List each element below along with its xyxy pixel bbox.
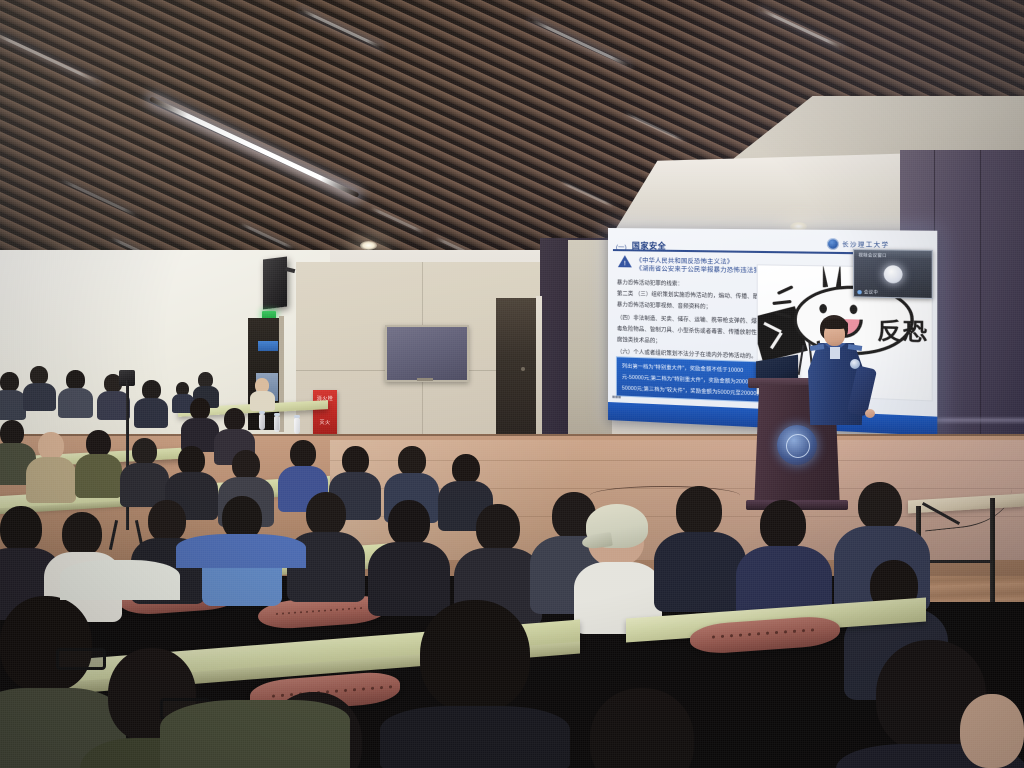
university-mark-icon [827, 238, 839, 250]
pip-status-label: 会议中 [864, 289, 878, 296]
slide-body-line: 毒危险物品、管制刀具、小型杀伤或者毒害、传播放射性和 [617, 324, 763, 336]
blue-jacket-sleeve [176, 534, 306, 568]
recessed-downlight [360, 241, 377, 250]
olive-sleeve [160, 700, 350, 768]
slide-body-line: 暴力恐怖活动犯罪视频、音频资料的； [617, 300, 711, 310]
white-sleeve [60, 560, 180, 600]
monitor-base [417, 378, 433, 381]
cartoon-eye [850, 305, 858, 315]
blue-wall-sign [258, 341, 278, 351]
cartoon-motion-line [777, 285, 794, 295]
officer-hand [865, 409, 875, 418]
slide-body-line: 腐蚀类技术品的； [617, 335, 661, 344]
fire-extinguisher-cabinet[interactable]: 消火栓 灭火 [313, 390, 337, 438]
door-jamb [536, 296, 542, 448]
police-officer-presenter [806, 315, 868, 435]
university-crest-ring [786, 434, 810, 458]
slide-body-line: （四）非法制造、买卖、储存、运输、携带枪支弹药、爆炸、剧 [617, 313, 774, 325]
officer-fringe [821, 319, 848, 329]
slide-body-line: 暴力恐怖活动犯罪的线索： [617, 278, 683, 287]
cartoon-text-label: 反恐 [877, 320, 928, 345]
ceiling-speaker [263, 257, 287, 310]
side-door[interactable] [496, 298, 538, 446]
slide-highlight-line: 50000元;第三档为"较大件"，奖励金额为5000元至20000元。 [622, 385, 768, 398]
officer-shirt [830, 347, 840, 359]
wall-mounted-monitor[interactable] [385, 325, 469, 382]
cartoon-motion-line [772, 300, 791, 305]
door-handle[interactable] [521, 367, 525, 371]
slide-footer-tag: ■■■ [612, 394, 621, 400]
video-conference-window[interactable]: 视频会议窗口 会议中 [853, 249, 933, 299]
cartoon-spike [836, 264, 843, 287]
bottle-cap [294, 415, 300, 418]
camera-tripod [126, 380, 129, 530]
slide-highlight-line: 元-50000元;第二档为"特别重大件"，奖励金额为20000元- [622, 374, 759, 386]
university-name: 长沙理工大学 [842, 239, 889, 249]
bottle-cap [259, 411, 265, 414]
wall-column-light [568, 240, 612, 466]
slide-highlight-line: 列出第一档为"特别重大件"，奖励金额不低于10000 [622, 363, 743, 375]
cartoon-eye [819, 304, 827, 314]
water-bottle [274, 416, 280, 432]
pip-status-dot [857, 290, 861, 294]
pip-title: 视频会议窗口 [858, 252, 886, 259]
slide-body-line: 第二类 （三）组织策划实施恐怖活动的，煽动、传播、散布 [617, 289, 765, 300]
warning-exclamation-icon: ! [624, 261, 626, 267]
water-bottle [259, 414, 265, 430]
eyeglasses [56, 648, 106, 670]
cartoon-spike [820, 264, 828, 287]
fire-cabinet-label-2: 灭火 [313, 420, 337, 426]
lecture-hall-photo: 消火栓 灭火 (一) 国家安全 ! 《中华人民共和国反恐怖主义法》 《湖南省公安… [0, 0, 1024, 768]
water-bottle [294, 418, 300, 434]
pip-titlebar: 视频会议窗口 [854, 250, 932, 258]
pip-light-orb [884, 265, 903, 283]
table-leg [990, 498, 995, 602]
bottle-cap [274, 413, 280, 416]
